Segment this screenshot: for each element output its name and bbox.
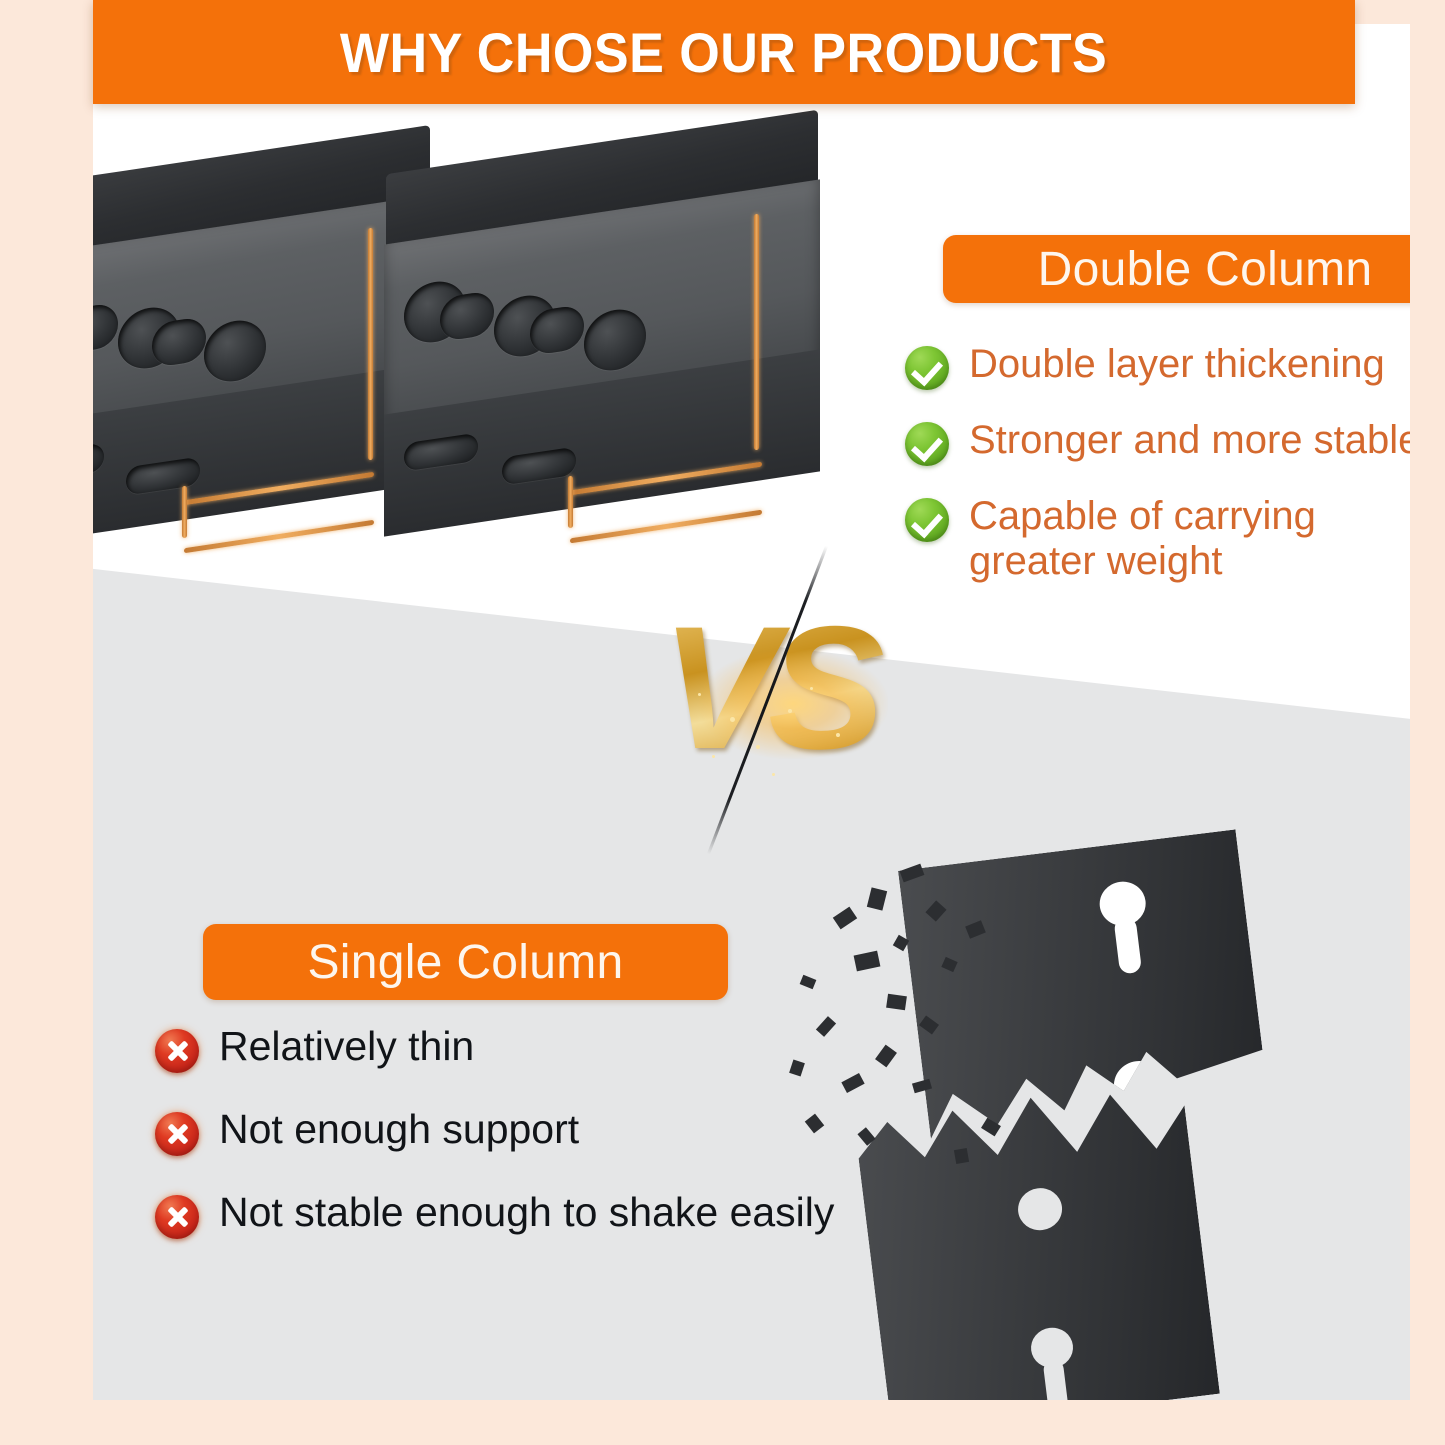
x-circle-icon	[155, 1195, 199, 1239]
check-circle-icon	[905, 498, 949, 542]
list-item: Capable of carrying greater weight	[905, 494, 1410, 584]
list-item: Not stable enough to shake easily	[155, 1190, 935, 1239]
x-circle-icon	[155, 1029, 199, 1073]
check-circle-icon	[905, 422, 949, 466]
single-column-drawbacks-list: Relatively thin Not enough support Not s…	[155, 1024, 935, 1273]
header-banner: WHY CHOSE OUR PRODUCTS	[93, 0, 1355, 104]
check-circle-icon	[905, 346, 949, 390]
x-circle-icon	[155, 1112, 199, 1156]
double-column-badge: Double Column	[943, 235, 1410, 303]
content-area: VS	[93, 24, 1410, 1400]
list-item: Stronger and more stable	[905, 418, 1410, 466]
vs-flare	[698, 649, 888, 759]
double-column-badge-label: Double Column	[1038, 242, 1373, 297]
benefit-label: Double layer thickening	[969, 342, 1385, 387]
benefit-label: Stronger and more stable	[969, 418, 1410, 463]
benefit-label: Capable of carrying greater weight	[969, 494, 1410, 584]
infographic-page: VS	[0, 0, 1445, 1445]
drawback-label: Not stable enough to shake easily	[219, 1190, 834, 1236]
double-column-benefits-list: Double layer thickening Stronger and mor…	[905, 342, 1410, 612]
single-column-badge-label: Single Column	[307, 935, 623, 990]
list-item: Not enough support	[155, 1107, 935, 1156]
double-column-product-photo	[93, 128, 828, 598]
beam-right	[378, 142, 828, 572]
drawback-label: Not enough support	[219, 1107, 579, 1153]
versus-graphic: VS	[638, 559, 898, 819]
list-item: Relatively thin	[155, 1024, 935, 1073]
page-title: WHY CHOSE OUR PRODUCTS	[340, 20, 1107, 85]
drawback-label: Relatively thin	[219, 1024, 474, 1070]
list-item: Double layer thickening	[905, 342, 1410, 390]
single-column-badge: Single Column	[203, 924, 728, 1000]
